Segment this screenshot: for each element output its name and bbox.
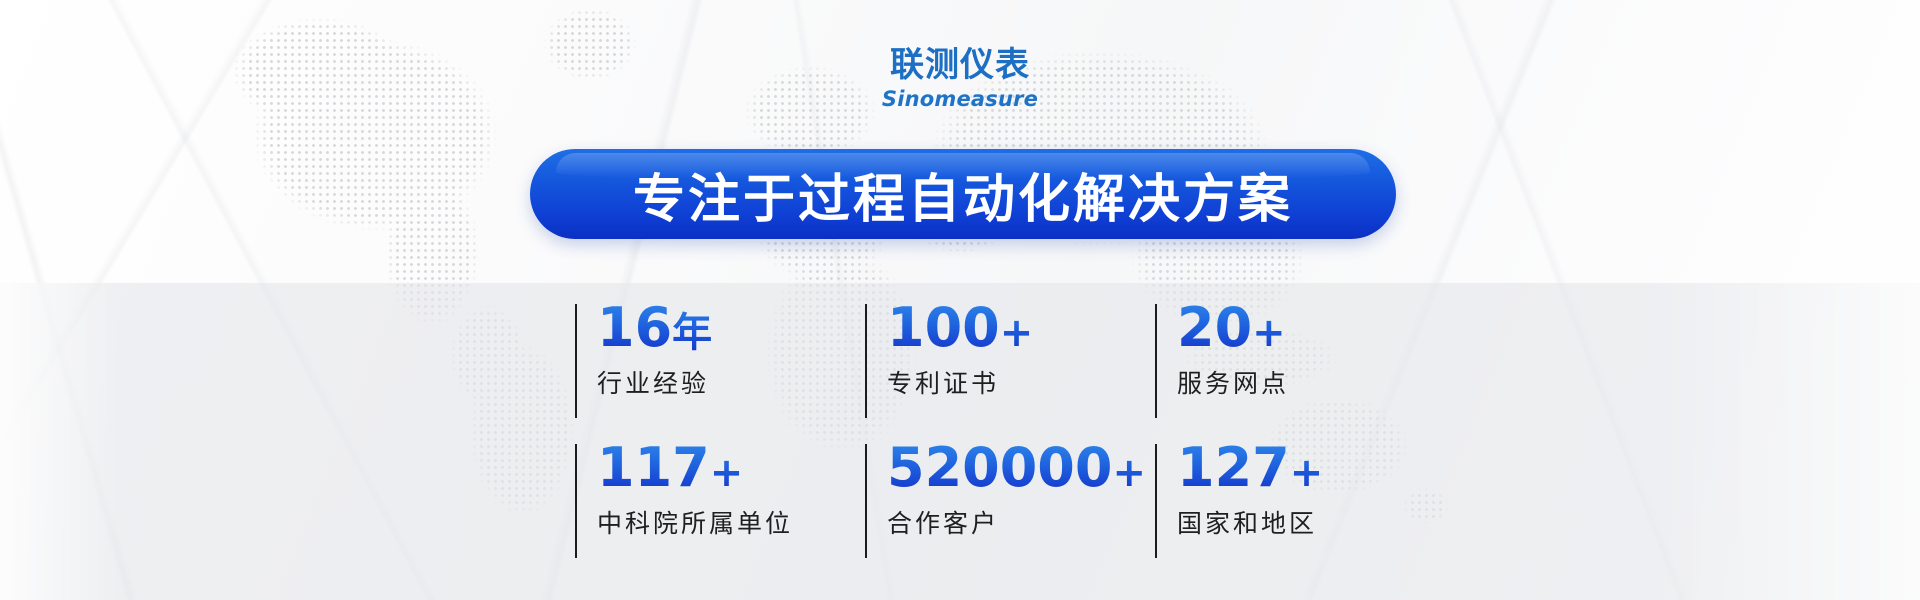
stat-item-industry-experience: 16年 行业经验 [575, 300, 865, 440]
stat-rule [865, 444, 867, 558]
stat-value: 100+ [887, 300, 1155, 355]
stat-number: 100 [887, 296, 1000, 359]
stat-value: 127+ [1177, 440, 1365, 495]
stat-value: 117+ [597, 440, 865, 495]
stat-unit: + [1290, 450, 1324, 496]
stat-number: 16 [597, 296, 672, 359]
stat-label: 中科院所属单位 [597, 504, 865, 540]
stat-label: 专利证书 [887, 364, 1155, 400]
stat-item-cooperative-customers: 520000+ 合作客户 [865, 440, 1155, 580]
stat-rule [575, 304, 577, 418]
stat-number: 520000 [887, 436, 1112, 499]
stat-label: 行业经验 [597, 364, 865, 400]
stat-unit: + [1000, 310, 1034, 356]
stat-number: 20 [1177, 296, 1252, 359]
stat-label: 合作客户 [887, 504, 1155, 540]
stat-unit: 年 [672, 310, 712, 356]
brand-logo: 联测仪表 Sinomeasure [0, 48, 1920, 110]
stat-number: 127 [1177, 436, 1290, 499]
stat-item-cas-affiliated-units: 117+ 中科院所属单位 [575, 440, 865, 580]
stat-value: 20+ [1177, 300, 1365, 355]
stats-grid: 16年 行业经验 100+ 专利证书 20+ 服务网点 117+ 中科院所属单位 [575, 300, 1365, 580]
stat-rule [575, 444, 577, 558]
stat-item-patent-certificates: 100+ 专利证书 [865, 300, 1155, 440]
stat-label: 国家和地区 [1177, 504, 1365, 540]
headline-pill: 专注于过程自动化解决方案 [530, 149, 1396, 239]
stat-item-countries-and-regions: 127+ 国家和地区 [1155, 440, 1365, 580]
stat-rule [1155, 304, 1157, 418]
stat-value: 16年 [597, 300, 865, 355]
brand-logo-en: Sinomeasure [0, 89, 1920, 110]
hero-banner: 联测仪表 Sinomeasure 专注于过程自动化解决方案 16年 行业经验 1… [0, 0, 1920, 600]
stat-rule [1155, 444, 1157, 558]
stat-value: 520000+ [887, 440, 1155, 495]
brand-logo-cn: 联测仪表 [0, 48, 1920, 82]
stat-item-service-outlets: 20+ 服务网点 [1155, 300, 1365, 440]
stat-rule [865, 304, 867, 418]
stat-number: 117 [597, 436, 710, 499]
stat-unit: + [1252, 310, 1286, 356]
stat-unit: + [710, 450, 744, 496]
headline-text: 专注于过程自动化解决方案 [633, 157, 1293, 232]
stat-label: 服务网点 [1177, 364, 1365, 400]
stat-unit: + [1112, 450, 1146, 496]
